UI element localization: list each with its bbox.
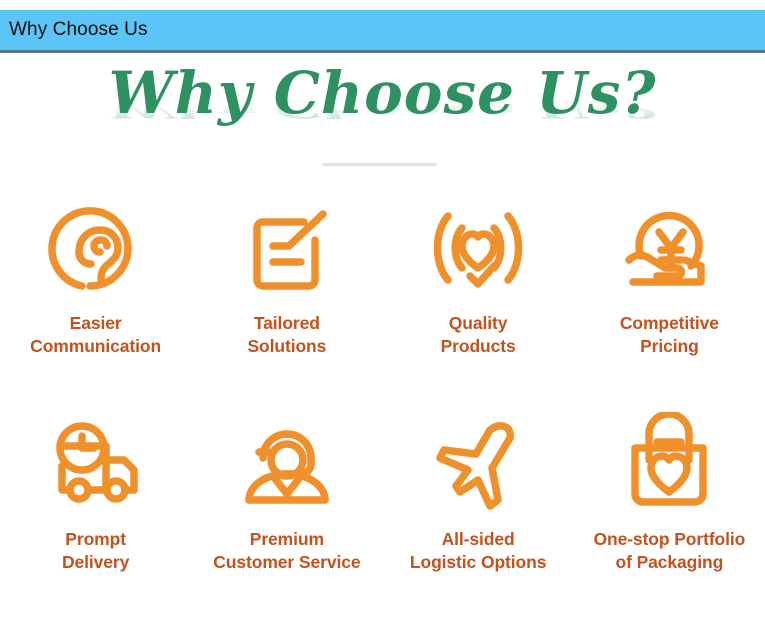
feature-label-line2: Communication (30, 336, 161, 356)
feature-label-line2: Delivery (62, 552, 129, 572)
feature-label-line1: Premium (250, 529, 324, 549)
hero-heading-block: Why Choose Us? Why Choose Us? (0, 56, 765, 164)
feature-label-line1: Competitive (620, 313, 719, 333)
feature-label-line2: Logistic Options (410, 552, 546, 572)
feature-label-line1: All-sided (442, 529, 515, 549)
headset-person-icon (235, 412, 339, 516)
feature-label: CompetitivePricing (620, 312, 719, 358)
feature-label: PremiumCustomer Service (213, 528, 360, 574)
feature-label: One-stop Portfolioof Packaging (593, 528, 745, 574)
feature-item-easier-communication[interactable]: EasierCommunication (0, 196, 191, 410)
ear-in-circle-icon (44, 196, 148, 300)
feature-item-prompt-delivery[interactable]: PromptDelivery (0, 410, 191, 624)
window-title: Why Choose Us (0, 19, 148, 41)
page-content: Why Choose Us? Why Choose Us? EasierComm… (0, 56, 765, 599)
feature-label: EasierCommunication (30, 312, 161, 358)
feature-label-line1: Prompt (65, 529, 126, 549)
hand-yen-coin-icon (617, 196, 721, 300)
feature-grid: EasierCommunication TailoredSolutions (0, 196, 765, 624)
feature-label-line1: Quality (449, 313, 508, 333)
truck-clock-icon (44, 412, 148, 516)
heading-divider (322, 163, 437, 166)
shopping-bag-heart-icon (617, 412, 721, 516)
feature-label-line2: of Packaging (616, 552, 724, 572)
feature-item-competitive-pricing[interactable]: CompetitivePricing (574, 196, 765, 410)
feature-label: QualityProducts (441, 312, 516, 358)
feature-item-tailored-solutions[interactable]: TailoredSolutions (191, 196, 382, 410)
feature-label-line2: Customer Service (213, 552, 360, 572)
feature-item-one-stop-portfolio-of-packaging[interactable]: One-stop Portfolioof Packaging (574, 410, 765, 624)
airplane-icon (426, 412, 530, 516)
feature-item-premium-customer-service[interactable]: PremiumCustomer Service (191, 410, 382, 624)
document-pencil-icon (235, 196, 339, 300)
feature-label: PromptDelivery (62, 528, 129, 574)
page-title-reflection: Why Choose Us? (0, 96, 765, 122)
feature-label-line2: Products (441, 336, 516, 356)
feature-label: TailoredSolutions (247, 312, 326, 358)
feature-item-quality-products[interactable]: QualityProducts (383, 196, 574, 410)
window-titlebar: Why Choose Us (0, 10, 765, 53)
feature-item-all-sided-logistic-options[interactable]: All-sidedLogistic Options (383, 410, 574, 624)
heart-signal-check-icon (426, 196, 530, 300)
feature-label-line1: Easier (70, 313, 122, 333)
feature-label-line1: Tailored (254, 313, 320, 333)
feature-label-line1: One-stop Portfolio (593, 529, 745, 549)
feature-label: All-sidedLogistic Options (410, 528, 546, 574)
feature-label-line2: Solutions (247, 336, 326, 356)
feature-label-line2: Pricing (640, 336, 699, 356)
